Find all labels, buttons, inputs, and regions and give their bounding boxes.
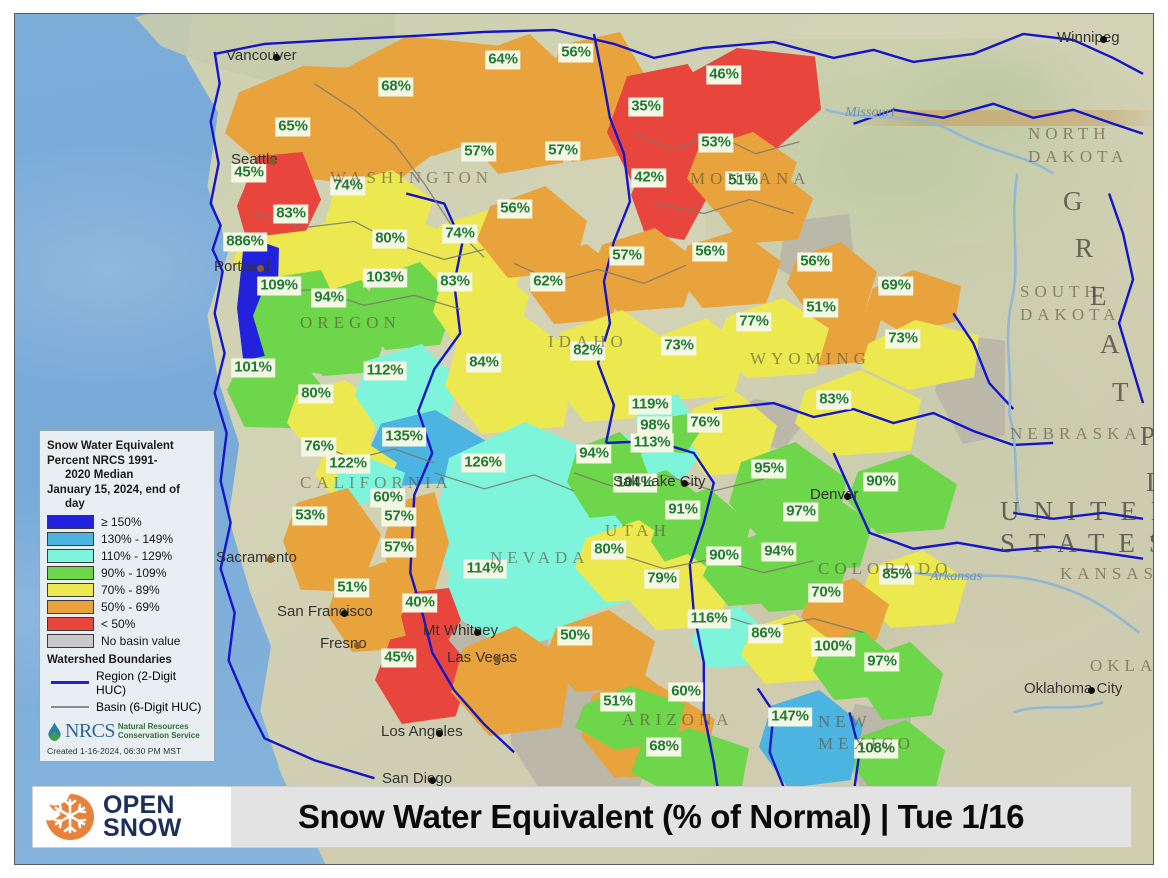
basin-value-label: 80%: [591, 541, 626, 560]
city-dot: [1088, 687, 1095, 694]
place-label-state: NEVADA: [490, 548, 590, 568]
basin-value-label: 113%: [631, 434, 674, 453]
city-dot: [494, 656, 501, 663]
basin-value-label: 97%: [783, 503, 818, 522]
basin-value-label: 83%: [273, 205, 308, 224]
basin-value-label: 119%: [629, 396, 672, 415]
legend-color-swatch: [47, 532, 94, 546]
bottom-title-bar: OPEN SNOW Snow Water Equivalent (% of No…: [32, 786, 1132, 848]
place-label-state: OKLAH: [1090, 656, 1154, 676]
basin-value-label: 56%: [497, 200, 532, 219]
basin-value-label: 147%: [768, 708, 812, 727]
legend-class-label: No basin value: [101, 634, 180, 648]
legend-title: Snow Water Equivalent Percent NRCS 1991-…: [47, 439, 207, 512]
basin-value-label: 76%: [687, 414, 722, 433]
city-dot: [474, 629, 481, 636]
legend-class-label: 90% - 109%: [101, 566, 166, 580]
place-label-state: NEW: [818, 712, 872, 732]
legend-color-swatch: [47, 583, 94, 597]
basin-value-label: 51%: [803, 299, 838, 318]
legend-created-timestamp: Created 1-16-2024, 06:30 PM MST: [47, 746, 207, 756]
place-label-big: UNITED: [1000, 496, 1154, 527]
legend-color-swatch: [47, 634, 94, 648]
place-label-big: R: [1075, 233, 1107, 264]
legend-class-label: ≥ 150%: [101, 515, 142, 529]
basin-value-label: 69%: [878, 277, 913, 296]
legend-color-swatch: [47, 549, 94, 563]
place-label-state: NEBRASKA: [1010, 424, 1142, 444]
place-label-big: A: [1100, 329, 1134, 360]
legend-boundary-row[interactable]: Basin (6-Digit HUC): [47, 700, 207, 714]
basin-value-label: 73%: [661, 337, 696, 356]
basin-value-label: 51%: [334, 579, 369, 598]
nrcs-logo: NRCS Natural Resources Conservation Serv…: [47, 720, 207, 743]
city-dot: [257, 265, 264, 272]
legend-class-row[interactable]: No basin value: [47, 634, 207, 648]
place-label-state: CALIFORNIA: [300, 473, 453, 493]
basin-value-label: 56%: [797, 253, 832, 272]
basin-value-label: 101%: [231, 359, 275, 378]
basin-value-label: 109%: [257, 277, 301, 296]
basin-value-label: 122%: [326, 455, 370, 474]
place-label-big: L: [1146, 467, 1154, 498]
place-label-state: ARIZONA: [622, 710, 734, 730]
legend-color-swatch: [47, 617, 94, 631]
place-label-state: UTAH: [605, 521, 671, 541]
legend-class-row[interactable]: 90% - 109%: [47, 566, 207, 580]
basin-value-label: 886%: [223, 233, 267, 252]
basin-value-label: 116%: [688, 610, 731, 629]
basin-value-label: 45%: [381, 649, 416, 668]
place-label-state: KANSAS: [1060, 564, 1154, 584]
basin-value-label: 46%: [706, 66, 741, 85]
city-dot: [429, 777, 436, 784]
basin-value-label: 94%: [761, 543, 796, 562]
legend-boundary-row[interactable]: Region (2-Digit HUC): [47, 669, 207, 697]
place-label-city: Los Angeles: [381, 723, 463, 740]
legend-class-row[interactable]: 110% - 129%: [47, 549, 207, 563]
place-label-state: IDAHO: [548, 332, 628, 352]
basin-value-label: 57%: [609, 247, 644, 266]
city-dot: [273, 54, 280, 61]
basin-value-label: 112%: [364, 362, 407, 381]
basin-value-label: 57%: [381, 539, 416, 558]
opensnow-word-snow: SNOW: [103, 817, 182, 840]
basin-value-label: 90%: [706, 547, 741, 566]
place-label-city: San Diego: [382, 770, 452, 787]
basin-value-label: 90%: [863, 473, 898, 492]
legend-class-label: 70% - 89%: [101, 583, 160, 597]
legend-title-line-3: 2020 Median: [47, 468, 207, 483]
legend-class-list: ≥ 150%130% - 149%110% - 129%90% - 109%70…: [47, 515, 207, 648]
map-main-title: Snow Water Equivalent (% of Normal) | Tu…: [231, 798, 1131, 836]
place-label-big: STATES: [1000, 528, 1154, 559]
place-label-city: Salt Lake City: [613, 473, 706, 490]
place-label-state: DAKOTA: [1028, 147, 1128, 167]
legend-line-swatch: [51, 706, 89, 708]
place-label-water: Missouri: [845, 105, 895, 121]
legend-title-line-1: Snow Water Equivalent: [47, 439, 207, 454]
basin-value-label: 77%: [736, 313, 771, 332]
city-dot: [1100, 36, 1107, 43]
city-dot: [681, 480, 688, 487]
place-label-big: E: [1090, 281, 1121, 312]
opensnow-logo-mark: [43, 792, 97, 842]
legend-color-swatch: [47, 600, 94, 614]
map-legend[interactable]: Snow Water Equivalent Percent NRCS 1991-…: [39, 430, 215, 762]
place-label-big: T: [1112, 377, 1143, 408]
basin-value-label: 73%: [885, 330, 920, 349]
place-label-city: Winnipeg: [1057, 29, 1120, 46]
nrcs-subtitle-line-1: Natural Resources: [118, 722, 200, 732]
basin-value-label: 70%: [808, 584, 843, 603]
city-dot: [267, 556, 274, 563]
basin-value-label: 91%: [665, 501, 700, 520]
basin-value-label: 74%: [442, 225, 477, 244]
opensnow-logo[interactable]: OPEN SNOW: [33, 787, 231, 847]
place-label-city: Mt Whitney: [423, 622, 498, 639]
basin-value-label: 57%: [461, 143, 496, 162]
basin-value-label: 50%: [557, 627, 592, 646]
place-label-water: Arkansas: [930, 569, 982, 585]
legend-title-line-2: Percent NRCS 1991-: [47, 454, 207, 469]
basin-value-label: 64%: [485, 51, 520, 70]
basin-value-label: 53%: [698, 134, 733, 153]
place-label-big: P: [1140, 421, 1154, 452]
basin-value-label: 79%: [644, 570, 679, 589]
place-label-state: WYOMING: [750, 349, 871, 369]
place-label-city: Las Vegas: [447, 649, 517, 666]
basin-value-label: 56%: [558, 44, 593, 63]
basin-value-label: 97%: [864, 653, 899, 672]
city-dot: [341, 610, 348, 617]
basin-value-label: 83%: [816, 391, 851, 410]
basin-value-label: 51%: [600, 693, 635, 712]
basin-value-label: 60%: [668, 683, 703, 702]
place-label-state: NORTH: [1028, 124, 1111, 144]
legend-class-label: < 50%: [101, 617, 135, 631]
basin-value-label: 126%: [461, 454, 505, 473]
basin-value-label: 57%: [381, 508, 416, 527]
basin-value-label: 40%: [402, 594, 437, 613]
legend-color-swatch: [47, 515, 94, 529]
legend-class-row[interactable]: 70% - 89%: [47, 583, 207, 597]
basin-value-label: 94%: [576, 445, 611, 464]
basin-value-label: 86%: [748, 625, 783, 644]
place-label-city: Denver: [810, 486, 858, 503]
place-label-state: MEXICO: [818, 734, 915, 754]
place-label-state: OREGON: [300, 313, 401, 333]
basin-value-label: 100%: [811, 638, 855, 657]
basin-value-label: 94%: [311, 289, 346, 308]
basin-value-label: 35%: [628, 98, 663, 117]
legend-class-label: 110% - 129%: [101, 549, 172, 563]
legend-boundary-label: Region (2-Digit HUC): [96, 669, 207, 697]
legend-class-row[interactable]: < 50%: [47, 617, 207, 631]
basin-value-label: 68%: [378, 78, 413, 97]
place-label-big: A: [1150, 513, 1154, 544]
place-label-city: Vancouver: [226, 47, 297, 64]
legend-class-label: 130% - 149%: [101, 532, 173, 546]
place-label-city: Oklahoma City: [1024, 680, 1122, 697]
place-label-state: WASHINGTON: [330, 168, 493, 188]
nrcs-subtitle-line-2: Conservation Service: [118, 731, 200, 741]
basin-value-label: 83%: [437, 273, 472, 292]
legend-color-swatch: [47, 566, 94, 580]
place-label-big: G: [1063, 186, 1097, 217]
screenshot-root: 64%56%46%68%35%65%53%57%57%45%42%51%74%5…: [0, 0, 1168, 878]
basin-value-label: 62%: [530, 273, 565, 292]
water-drop-icon: [47, 722, 62, 741]
basin-value-label: 95%: [751, 460, 786, 479]
basin-value-label: 53%: [292, 507, 327, 526]
basin-value-label: 68%: [646, 738, 681, 757]
legend-boundary-label: Basin (6-Digit HUC): [96, 700, 201, 714]
legend-class-row[interactable]: 130% - 149%: [47, 532, 207, 546]
basin-value-label: 42%: [631, 169, 666, 188]
nrcs-subtitle: Natural Resources Conservation Service: [118, 722, 200, 741]
basin-value-label: 135%: [382, 428, 426, 447]
place-label-state: MONTANA: [690, 169, 811, 189]
legend-title-line-5: day: [47, 497, 207, 512]
basin-value-label: 80%: [298, 385, 333, 404]
legend-class-row[interactable]: 50% - 69%: [47, 600, 207, 614]
basin-value-label: 57%: [545, 142, 580, 161]
place-label-city: San Francisco: [277, 603, 373, 620]
place-label-city: Sacramento: [216, 549, 297, 566]
legend-class-label: 50% - 69%: [101, 600, 160, 614]
basin-value-label: 103%: [363, 269, 407, 288]
map-frame[interactable]: 64%56%46%68%35%65%53%57%57%45%42%51%74%5…: [14, 13, 1154, 865]
basin-value-label: 80%: [372, 230, 407, 249]
legend-boundary-list: Region (2-Digit HUC)Basin (6-Digit HUC): [47, 669, 207, 714]
legend-title-line-4: January 15, 2024, end of: [47, 483, 207, 498]
basin-value-label: 56%: [692, 243, 727, 262]
legend-class-row[interactable]: ≥ 150%: [47, 515, 207, 529]
nrcs-acronym: NRCS: [65, 720, 115, 743]
opensnow-wordmark: OPEN SNOW: [103, 794, 182, 840]
basin-value-label: 84%: [466, 354, 501, 373]
legend-boundaries-heading: Watershed Boundaries: [47, 654, 207, 666]
basin-value-label: 65%: [275, 118, 310, 137]
legend-line-swatch: [51, 681, 89, 684]
snowflake-icon: [43, 792, 97, 842]
